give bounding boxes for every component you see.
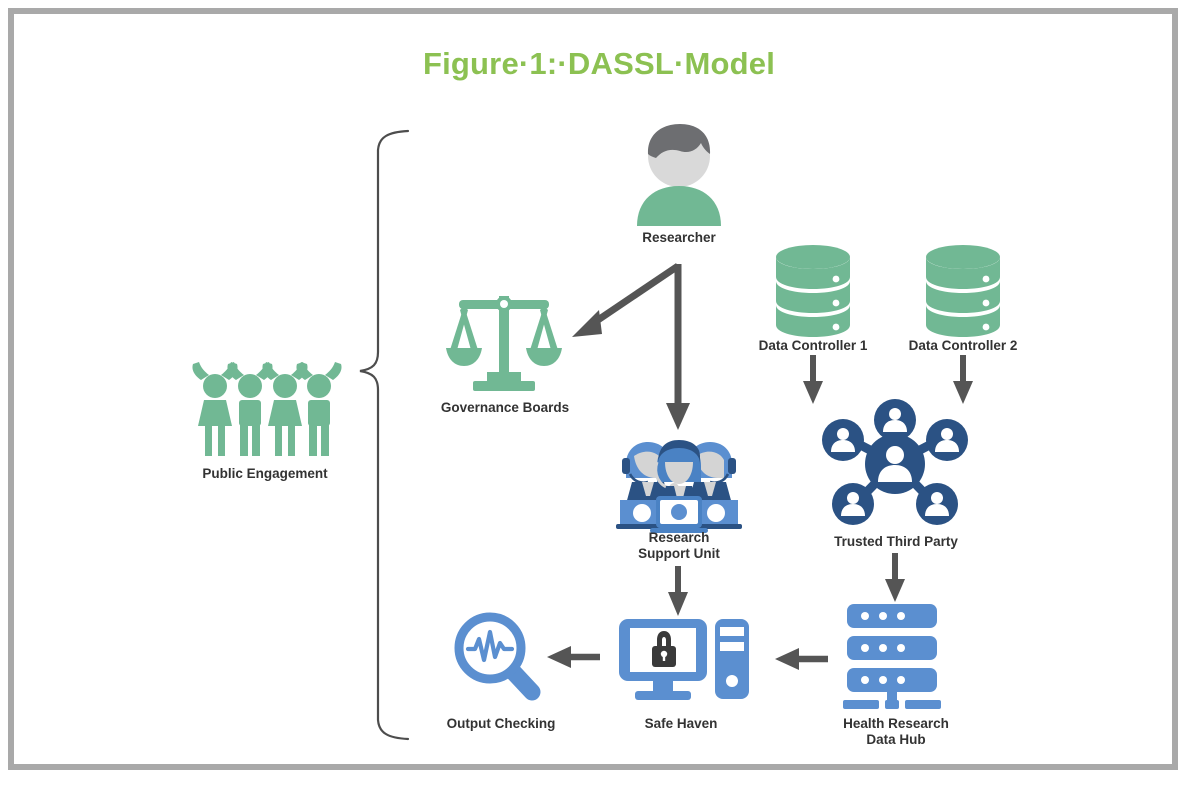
figure-canvas: Figure·1:·DASSL·Model xyxy=(0,0,1198,790)
label-data-controller-2: Data Controller 2 xyxy=(883,338,1043,354)
label-output-checking: Output Checking xyxy=(430,716,572,732)
node-research-support-unit[interactable] xyxy=(612,430,746,538)
label-governance-boards: Governance Boards xyxy=(418,400,592,416)
label-researcher: Researcher xyxy=(588,230,770,246)
label-safe-haven: Safe Haven xyxy=(610,716,752,732)
database-icon xyxy=(770,243,856,343)
data-controller-1-to-trusted-third-party-arrow xyxy=(803,355,823,404)
node-governance-boards[interactable] xyxy=(445,278,563,396)
connectors-layer xyxy=(0,0,1198,790)
research-support-unit-to-safe-haven-arrow xyxy=(668,566,688,616)
trusted-third-party-to-health-research-data-hub-arrow xyxy=(885,553,905,602)
node-output-checking[interactable] xyxy=(452,610,548,706)
network-hub-icon xyxy=(817,398,973,528)
person-icon xyxy=(625,118,733,226)
node-data-controller-2[interactable] xyxy=(920,243,1006,343)
node-researcher[interactable] xyxy=(625,118,733,226)
data-controller-2-to-trusted-third-party-arrow xyxy=(953,355,973,404)
scales-icon xyxy=(445,278,563,396)
researcher-to-governance-boards-arrow xyxy=(572,266,678,337)
database-icon xyxy=(920,243,1006,343)
label-trusted-third-party: Trusted Third Party xyxy=(808,534,984,550)
label-data-controller-1: Data Controller 1 xyxy=(733,338,893,354)
health-research-data-hub-to-safe-haven-arrow xyxy=(775,648,828,670)
label-research-support-unit: Research Support Unit xyxy=(600,530,758,561)
label-health-research-data-hub: Health Research Data Hub xyxy=(818,716,974,747)
crowd-icon xyxy=(185,360,345,460)
node-trusted-third-party[interactable] xyxy=(817,398,973,528)
node-safe-haven[interactable] xyxy=(615,613,751,705)
server-rack-icon xyxy=(843,600,947,700)
node-public-engagement[interactable] xyxy=(185,360,345,460)
secure-computer-icon xyxy=(615,613,751,705)
safe-haven-to-output-checking-arrow xyxy=(547,646,600,668)
node-health-research-data-hub[interactable] xyxy=(843,600,947,700)
node-data-controller-1[interactable] xyxy=(770,243,856,343)
label-public-engagement: Public Engagement xyxy=(165,466,365,482)
public-engagement-brace xyxy=(360,131,408,739)
researcher-to-research-support-unit-arrow xyxy=(666,264,690,430)
magnifier-ecg-icon xyxy=(452,610,548,706)
support-team-icon xyxy=(612,430,746,538)
